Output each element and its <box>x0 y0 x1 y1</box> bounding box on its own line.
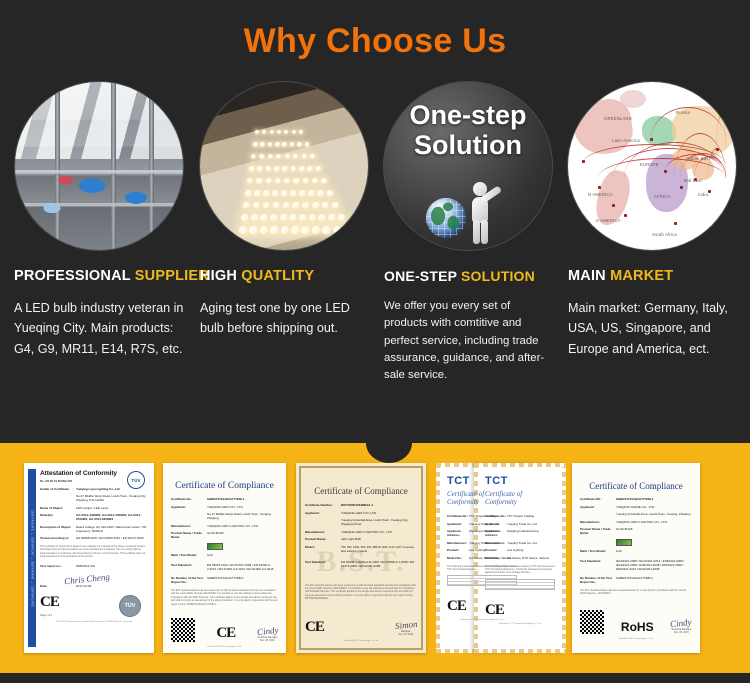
row-value: GU10 BULB <box>207 531 224 539</box>
ce-mark-icon: CE <box>305 619 324 636</box>
feature-heading-accent: SOLUTION <box>461 268 535 284</box>
test-report-value: 50861514 001 <box>76 564 95 568</box>
factory-workshop-photo <box>15 82 183 250</box>
led-bulb <box>290 190 297 197</box>
signature: Simon <box>394 619 417 631</box>
row-key: Certificate NO.: <box>580 497 616 501</box>
row-value: EN 60968:2015 / EN 62560:2012 / EN 62471… <box>76 536 144 540</box>
led-bulb <box>343 226 352 235</box>
led-bulb <box>299 166 305 172</box>
certificate-tct-pair: TCT Certificate of Conformity Certificat… <box>436 463 566 653</box>
led-bulb <box>263 190 270 197</box>
certificate-paragraph: The following products have been tested … <box>485 565 555 575</box>
one-step-graphic-text: One-step Solution <box>384 100 552 160</box>
led-bulb <box>251 154 256 159</box>
led-bulb <box>333 226 342 235</box>
led-bulb <box>257 166 263 172</box>
map-region-label: GREENLAND <box>604 116 632 121</box>
row-key: Manufacturer: <box>171 524 207 528</box>
certificate-title: Certificate of Conformity <box>485 490 555 506</box>
page-title: Why Choose Us <box>0 0 750 58</box>
feature-main-market: GREENLANDN AMERICAEUROPEAFRICAMid EastIn… <box>560 82 744 385</box>
led-bulb <box>299 190 306 197</box>
row-key: Product Name: <box>305 537 341 541</box>
row-key: Applicant: <box>447 522 469 526</box>
led-bulb <box>245 190 252 197</box>
row-value: Yueqing Lepu Lighting Co.,Ltd. <box>76 487 120 491</box>
row-key: Applicant: <box>580 505 616 509</box>
led-bulb <box>270 214 278 222</box>
row-value: YUEQING LEPU CO.,LTD. <box>341 511 377 515</box>
led-bulb <box>277 130 281 134</box>
brand-logo-icon <box>616 539 632 546</box>
row-value: GA-0014-4408W3, GA-0014-4409W3, GA-0014-… <box>76 513 148 521</box>
certificate-footer: Shenzhen BST Technology Co.,Ltd. <box>580 638 692 640</box>
market-node <box>674 222 677 225</box>
led-bulb <box>256 178 262 184</box>
mini-table <box>485 579 555 590</box>
led-bulb <box>260 142 265 147</box>
led-bulb <box>253 142 258 147</box>
led-bulb <box>249 226 258 235</box>
row-value: EN 60598-1:2008+A11:2009 / EN 60598-2-1:… <box>341 560 417 568</box>
led-bulb <box>299 130 303 134</box>
ce-mark-icon: CE <box>216 625 235 642</box>
led-bulb <box>293 154 298 159</box>
led-bulb <box>262 130 266 134</box>
certificate-paragraph: The EUT described above has been tested … <box>171 589 278 606</box>
certificate-footer: Shenzhen TCT Testing Technology Co., Ltd… <box>447 619 517 621</box>
row-key: Product Name / Trade Name: <box>171 531 207 539</box>
feature-image-one-step: One-step Solution <box>384 82 552 250</box>
globe-icon <box>426 198 466 238</box>
led-bulb <box>251 214 259 222</box>
led-bulb <box>280 214 288 222</box>
row-value: SHBEST1614G2A777E8L4 <box>616 576 653 584</box>
features-row: PROFESSIONAL SUPPLIER A LED bulb industr… <box>0 82 750 385</box>
row-value: YUEQING LEPU LIGHTING CO., LTD. <box>341 530 393 534</box>
row-value: YUEQING TRADE CO., LTD. <box>616 505 655 509</box>
led-bulb <box>285 154 290 159</box>
certificate-compliance-sdt[interactable]: Certificate of Compliance Certificate No… <box>163 463 286 653</box>
signature-date: Nov. 28, 2016 <box>257 639 279 642</box>
led-bulb <box>270 226 279 235</box>
feature-image-factory <box>15 82 183 250</box>
led-bulb <box>291 226 300 235</box>
row-value: Yueqing Industrial Zone, Liushi Town, Yu… <box>616 512 690 516</box>
row-value: Led Lighting <box>507 548 523 552</box>
led-bulb <box>312 226 321 235</box>
trade-route-arc <box>716 116 726 188</box>
led-bulb <box>270 130 274 134</box>
world-market-map: GREENLANDN AMERICAEUROPEAFRICAMid EastIn… <box>568 82 736 250</box>
feature-high-quality: HIGH QUATLITY Aging test one by one LED … <box>192 82 376 385</box>
signature-date: Nov. 28, 2015 <box>395 633 418 636</box>
row-value: 7W, 5W, 12W, 9W, 3W, MR16, E26, E14, E27… <box>341 545 417 553</box>
row-key: Product: <box>485 548 507 552</box>
map-region-label: Russia <box>676 110 690 115</box>
row-key: Model No.: <box>485 556 507 560</box>
led-bulb <box>308 190 315 197</box>
row-key: Test Standard: <box>305 560 341 568</box>
certificate-footer: Shenzhen BST Technology Co.,Ltd. <box>171 646 278 648</box>
row-value: Yueqing Industrial Area, Liushi Town, Yu… <box>341 518 417 526</box>
certificate-title: Certificate of Compliance <box>580 481 692 491</box>
led-bulb <box>274 166 280 172</box>
map-region-label: Latin America <box>612 138 640 143</box>
led-bulb <box>303 178 309 184</box>
feature-heading: ONE-STEP SOLUTION <box>384 268 552 284</box>
led-bulb <box>260 214 268 222</box>
feature-heading-main: HIGH <box>200 268 241 284</box>
row-value: No.27 Middle Weiyi Road, Liushi Town, Yu… <box>76 494 148 502</box>
led-bulb <box>312 178 318 184</box>
led-bulb <box>289 214 297 222</box>
tuv-logo-icon: TÜV <box>127 471 145 489</box>
row-key: Certificate No.: <box>447 514 469 518</box>
led-bulb <box>321 178 327 184</box>
row-key: Manufacturer: <box>447 541 469 545</box>
map-region-label: Mid East <box>684 178 702 183</box>
led-bulb <box>283 202 290 209</box>
led-bulb <box>292 130 296 134</box>
led-bulb <box>276 154 281 159</box>
certificate-compliance-bst[interactable]: B.S.T. Certificate of Compliance Certifi… <box>296 463 426 653</box>
led-bulb <box>322 226 331 235</box>
feature-image-map: GREENLANDN AMERICAEUROPEAFRICAMid EastIn… <box>568 82 736 250</box>
row-key: Mark / Test Model: <box>580 549 616 553</box>
row-key: Description of Object: <box>40 525 76 533</box>
row-value: BST150604163MEG1-1 <box>341 503 373 507</box>
certificate-tct-front[interactable]: TCT Certificate of Conformity Certificat… <box>474 463 566 653</box>
market-node <box>708 190 711 193</box>
certificate-paragraph: This certificate of conformity is based … <box>40 545 148 559</box>
row-key: Name of Object: <box>40 506 76 510</box>
led-bulb <box>297 142 302 147</box>
led-bulb <box>317 190 324 197</box>
led-bulb <box>281 190 288 197</box>
row-key: Holder of Certificate: <box>40 487 76 491</box>
led-bulb <box>292 202 299 209</box>
led-bulb <box>275 142 280 147</box>
certificate-footer: Shenzhen BST Technology Co.,Ltd. <box>305 640 417 642</box>
map-region-label: N AMERICA <box>588 192 613 197</box>
led-bulb <box>263 202 270 209</box>
qr-code-icon <box>171 618 195 642</box>
feature-heading-main: ONE-STEP <box>384 268 461 284</box>
certificate-sidebar-text: CERTIFICATE ▪ CERTIFICAT ▪ ZERTIFIKAT ▪ … <box>28 469 36 647</box>
led-bulbs-aging-test-photo <box>200 82 368 250</box>
led-bulb <box>249 166 255 172</box>
led-bulb <box>272 190 279 197</box>
row-key: Test Standard: <box>171 563 207 571</box>
led-bulb <box>239 226 248 235</box>
test-report-label: Test report no.: <box>40 564 76 568</box>
row-key: Test Standard: <box>580 559 616 571</box>
rohs-mark-icon: RoHS <box>621 620 654 634</box>
led-bulb <box>266 166 272 172</box>
feature-heading-main: PROFESSIONAL <box>14 268 135 284</box>
row-value: Yueqing Trade Co.,Ltd. <box>507 522 538 526</box>
led-bulb <box>254 190 261 197</box>
map-region-label: AFRICA <box>654 194 671 199</box>
led-bulb <box>307 166 313 172</box>
feature-description: Main market: Germany, Italy, USA, US, Si… <box>568 298 736 359</box>
led-bulb <box>282 166 288 172</box>
row-key: Product Name / Trade Name: <box>580 527 616 535</box>
one-step-line-1: One-step <box>384 100 552 130</box>
row-value: YUEQING LEPU CO., LTD. <box>207 505 244 509</box>
row-value: GA Series, R7S Series, Various <box>507 556 549 560</box>
row-value: SHBEST1614G2A777E8L1 <box>207 497 244 501</box>
feature-description: Aging test one by one LED bulb before sh… <box>200 298 368 339</box>
row-value: YUEQING LEPU LIGHTING CO., LTD. <box>616 520 668 524</box>
market-node <box>650 138 653 141</box>
feature-heading: PROFESSIONAL SUPPLIER <box>14 268 184 284</box>
row-key: Applicant: <box>485 522 507 526</box>
row-key: Applicant: <box>171 505 207 509</box>
row-value: GU10 BULB <box>616 527 633 535</box>
row-value: SHBEST1614G2A777E8L4 <box>616 497 653 501</box>
led-bulb <box>259 154 264 159</box>
led-bulb <box>305 142 310 147</box>
row-key: Applicant Address: <box>447 529 469 537</box>
market-node <box>582 160 585 163</box>
feature-heading-accent: MARKET <box>610 268 673 284</box>
led-bulb <box>260 226 269 235</box>
led-bulb <box>268 154 273 159</box>
row-key: No Number of the Test Report No.: <box>171 576 207 584</box>
feature-heading-accent: QUATLITY <box>241 268 314 284</box>
led-bulb <box>241 214 249 222</box>
led-bulb <box>281 226 290 235</box>
certificate-title: Certificate of Compliance <box>171 481 278 491</box>
map-region-label: South Africa <box>652 232 677 237</box>
feature-image-bulbs <box>200 82 368 250</box>
led-bulb <box>291 166 297 172</box>
row-key: Certificate Number: <box>305 503 341 507</box>
led-bulb <box>293 178 299 184</box>
led-bulb <box>316 166 322 172</box>
row-value: Zhejiang Industrial Area <box>507 529 539 537</box>
person-icon <box>464 182 498 244</box>
market-node <box>624 214 627 217</box>
feature-heading: MAIN MARKET <box>568 268 736 284</box>
feature-one-step-solution: One-step Solution ONE-STEP SOLUTION We o… <box>376 82 560 385</box>
led-bulb <box>332 202 339 209</box>
certificate-paragraph: The EUT described above has been tested/… <box>580 589 692 596</box>
led-bulb <box>275 178 281 184</box>
brand-logo-icon <box>207 543 223 550</box>
ce-mark-icon: CE <box>40 594 59 611</box>
led-bulb <box>268 142 273 147</box>
feature-heading-main: MAIN <box>568 268 610 284</box>
row-key: Certificate No.: <box>485 514 507 518</box>
band-notch-decoration <box>366 443 412 463</box>
row-key: Certificate No.: <box>171 497 207 501</box>
feature-description: A LED bulb industry veteran in Yueqing C… <box>14 298 184 359</box>
certificates-band: CERTIFICATE ▪ CERTIFICAT ▪ ZERTIFIKAT ▪ … <box>0 443 750 673</box>
led-bulb <box>284 130 288 134</box>
led-bulb <box>266 178 272 184</box>
row-value: Rated voltage: AC 220-240V; Rated input … <box>76 525 148 533</box>
row-key: Model: <box>305 545 341 553</box>
row-value: No.27 Middle Weiyi Road, Liushi Town, Yu… <box>207 512 278 520</box>
row-key: Mark / Test Model: <box>171 553 207 557</box>
row-key: Manufacturer: <box>580 520 616 524</box>
row-key: No Number of the Test Report No.: <box>580 576 616 584</box>
map-region-label: S AMERICA <box>596 218 621 223</box>
row-value: TCT Project Catalog <box>507 514 534 518</box>
map-region-label: EUROPE <box>640 162 659 167</box>
row-value: LED Lamps / LED Lamp <box>76 506 108 510</box>
led-bulb <box>310 154 315 159</box>
led-bulb <box>302 154 307 159</box>
led-bulb <box>338 214 346 222</box>
led-bulb <box>318 214 326 222</box>
row-key: Manufacturer: <box>305 530 341 534</box>
tct-logo: TCT <box>485 475 555 487</box>
row-key: Applicant: <box>305 511 341 515</box>
row-value: Yueqing Trade Co.,Ltd. <box>507 541 538 545</box>
led-bulb <box>309 214 317 222</box>
row-key: Applicant Address: <box>485 529 507 537</box>
row-value: G10 <box>207 553 213 557</box>
tuv-seal-icon: TÜV <box>119 595 141 617</box>
signature-date: Nov. 28, 2016 <box>670 631 692 634</box>
market-node <box>664 170 667 173</box>
ce-mark-icon: CE <box>485 602 555 619</box>
row-value: SHBEST1614G2A777E8L1 <box>207 576 244 584</box>
row-value: YUEQING LEPU LIGHTING CO., LTD. <box>207 524 259 528</box>
row-key: Product: <box>447 548 469 552</box>
certificate-footer: Shenzhen TCT Testing Technology Co., Ltd… <box>485 623 555 625</box>
row-key: Model(s): <box>40 513 76 521</box>
row-key: Model No.: <box>447 556 469 560</box>
led-bulb <box>253 202 260 209</box>
certificates-row: CERTIFICATE ▪ CERTIFICAT ▪ ZERTIFIKAT ▪ … <box>0 463 750 659</box>
row-value: Led Lighting <box>469 548 485 552</box>
led-bulb <box>255 130 259 134</box>
row-key: Manufacturer: <box>485 541 507 545</box>
led-bulb <box>302 202 309 209</box>
row-value: LED Light Bulb <box>341 537 361 541</box>
led-bulb <box>312 202 319 209</box>
row-key: Tested according to: <box>40 536 76 540</box>
led-bulb <box>299 214 307 222</box>
feature-professional-supplier: PROFESSIONAL SUPPLIER A LED bulb industr… <box>6 82 192 385</box>
led-bulb <box>328 214 336 222</box>
led-bulb <box>243 202 250 209</box>
row-value: G10 <box>616 549 622 553</box>
market-node <box>716 148 719 151</box>
market-node <box>612 204 615 207</box>
feature-description: We offer you every set of products with … <box>384 298 552 385</box>
map-region-label: Middle East <box>686 156 710 161</box>
one-step-solution-graphic: One-step Solution <box>384 82 552 250</box>
led-bulb <box>284 178 290 184</box>
certificate-footer: TÜV SÜD Product Service GmbH ▪ Ridlerstr… <box>40 621 148 623</box>
certificate-attestation-of-conformity[interactable]: CERTIFICATE ▪ CERTIFICAT ▪ ZERTIFIKAT ▪ … <box>24 463 154 653</box>
led-bulb <box>290 142 295 147</box>
certificate-title: Certificate of Compliance <box>305 486 417 496</box>
certificate-rohs[interactable]: Certificate of Compliance Certificate NO… <box>572 463 700 653</box>
row-value: IEC62321:2008 / IEC62321:2013 / EN62321:… <box>616 559 692 571</box>
qr-code-icon <box>580 610 604 634</box>
led-bulb <box>247 178 253 184</box>
led-bulb <box>282 142 287 147</box>
row-value: EN 55015:2013 / EN 61547:2009 / EN 61000… <box>207 563 278 571</box>
map-region-label: India <box>698 192 708 197</box>
led-bulb <box>322 202 329 209</box>
led-bulb <box>327 190 334 197</box>
one-step-line-2: Solution <box>384 130 552 160</box>
market-node <box>598 186 601 189</box>
led-bulb <box>273 202 280 209</box>
led-bulb <box>301 226 310 235</box>
feature-heading: HIGH QUATLITY <box>200 268 368 284</box>
certificate-paragraph: The EUT described above has been verifie… <box>305 584 417 601</box>
